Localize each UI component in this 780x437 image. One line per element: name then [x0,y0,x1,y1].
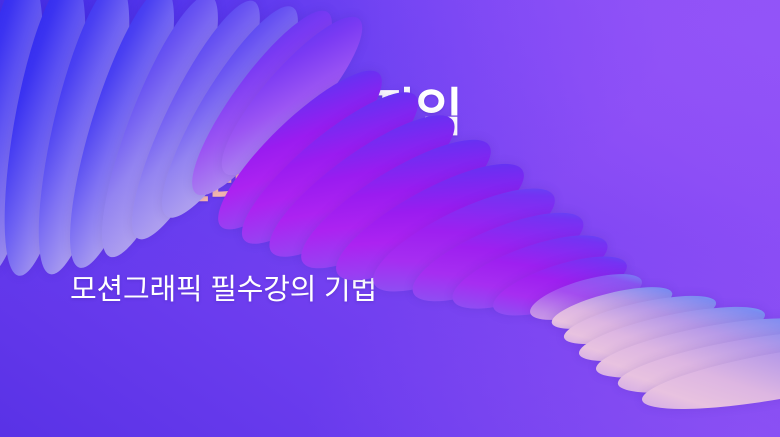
subtitle-text: 모션그래픽 필수강의 기법 [70,266,377,308]
promo-banner: 좋아보이는 움직임 모션그래픽 모션그래픽 필수강의 기법 [0,0,780,437]
spiral-blade-decoration [0,0,780,437]
